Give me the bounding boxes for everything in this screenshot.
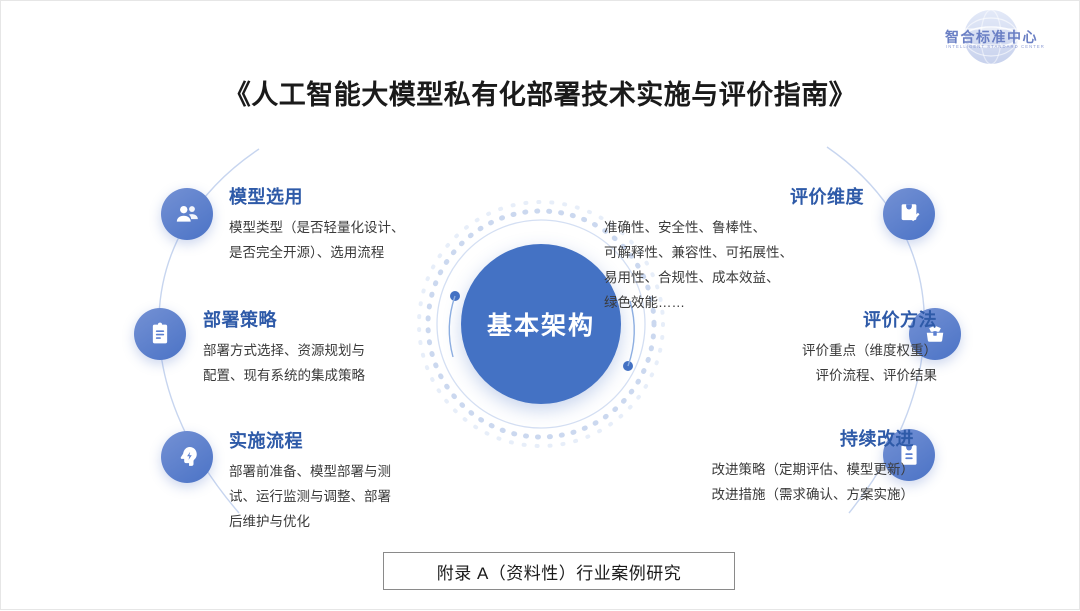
item-body: 部署方式选择、资源规划与 配置、现有系统的集成策略 — [203, 339, 458, 389]
item-body-line: 准确性、安全性、鲁棒性、 — [604, 216, 864, 241]
appendix-label: 附录 A（资料性）行业案例研究 — [437, 559, 682, 584]
item-body: 准确性、安全性、鲁棒性、 可解释性、兼容性、可拓展性、 易用性、合规性、成本效益… — [604, 216, 864, 316]
item-continuous-improvement: 持续改进 改进策略（定期评估、模型更新） 改进措施（需求确认、方案实施） — [584, 425, 914, 508]
item-body: 改进策略（定期评估、模型更新） 改进措施（需求确认、方案实施） — [584, 458, 914, 508]
item-body-line: 改进措施（需求确认、方案实施） — [584, 483, 914, 508]
item-body-line: 部署前准备、模型部署与测 — [229, 460, 479, 485]
icon-model-selection[interactable] — [161, 188, 213, 240]
icon-evaluation-dimensions[interactable] — [883, 188, 935, 240]
item-body-line: 评价流程、评价结果 — [637, 364, 937, 389]
icon-deployment-strategy[interactable] — [134, 308, 186, 360]
item-body-line: 后维护与优化 — [229, 510, 479, 535]
logo-en-text: INTELLIGENT STANDARD CENTER — [946, 44, 1045, 49]
page-title: 《人工智能大模型私有化部署技术实施与评价指南》 — [1, 73, 1079, 112]
item-body-line: 部署方式选择、资源规划与 — [203, 339, 458, 364]
item-body-line: 配置、现有系统的集成策略 — [203, 364, 458, 389]
item-head: 评价方法 — [637, 306, 937, 332]
item-model-selection: 模型选用 模型类型（是否轻量化设计、 是否完全开源）、选用流程 — [229, 183, 479, 266]
item-body-line: 可解释性、兼容性、可拓展性、 — [604, 241, 864, 266]
item-body-line: 是否完全开源）、选用流程 — [229, 241, 479, 266]
slide-canvas: 智合标准中心 INTELLIGENT STANDARD CENTER 《人工智能… — [0, 0, 1080, 610]
item-body-line: 模型类型（是否轻量化设计、 — [229, 216, 479, 241]
item-body-line: 评价重点（维度权重） — [637, 339, 937, 364]
center-circle: 基本架构 — [461, 244, 621, 404]
item-deployment-strategy: 部署策略 部署方式选择、资源规划与 配置、现有系统的集成策略 — [203, 306, 458, 389]
logo: 智合标准中心 INTELLIGENT STANDARD CENTER — [917, 5, 1067, 69]
item-implementation-process: 实施流程 部署前准备、模型部署与测 试、运行监测与调整、部署 后维护与优化 — [229, 427, 479, 535]
item-head: 实施流程 — [229, 427, 479, 453]
item-body-line: 试、运行监测与调整、部署 — [229, 485, 479, 510]
clipboard-lines-icon — [147, 321, 173, 347]
item-head: 评价维度 — [604, 183, 864, 209]
clipboard-check-icon — [896, 201, 922, 227]
appendix-box: 附录 A（资料性）行业案例研究 — [383, 552, 735, 590]
item-body-line: 易用性、合规性、成本效益、 — [604, 266, 864, 291]
item-body: 模型类型（是否轻量化设计、 是否完全开源）、选用流程 — [229, 216, 479, 266]
users-icon — [174, 201, 200, 227]
item-head: 模型选用 — [229, 183, 479, 209]
item-head: 持续改进 — [584, 425, 914, 451]
item-body: 评价重点（维度权重） 评价流程、评价结果 — [637, 339, 937, 389]
head-bolt-icon — [174, 444, 200, 470]
item-body: 部署前准备、模型部署与测 试、运行监测与调整、部署 后维护与优化 — [229, 460, 479, 535]
icon-implementation-process[interactable] — [161, 431, 213, 483]
item-evaluation-dimensions: 评价维度 准确性、安全性、鲁棒性、 可解释性、兼容性、可拓展性、 易用性、合规性… — [604, 183, 864, 316]
center-label: 基本架构 — [487, 306, 595, 342]
item-evaluation-method: 评价方法 评价重点（维度权重） 评价流程、评价结果 — [637, 306, 937, 389]
item-body-line: 改进策略（定期评估、模型更新） — [584, 458, 914, 483]
item-head: 部署策略 — [203, 306, 458, 332]
